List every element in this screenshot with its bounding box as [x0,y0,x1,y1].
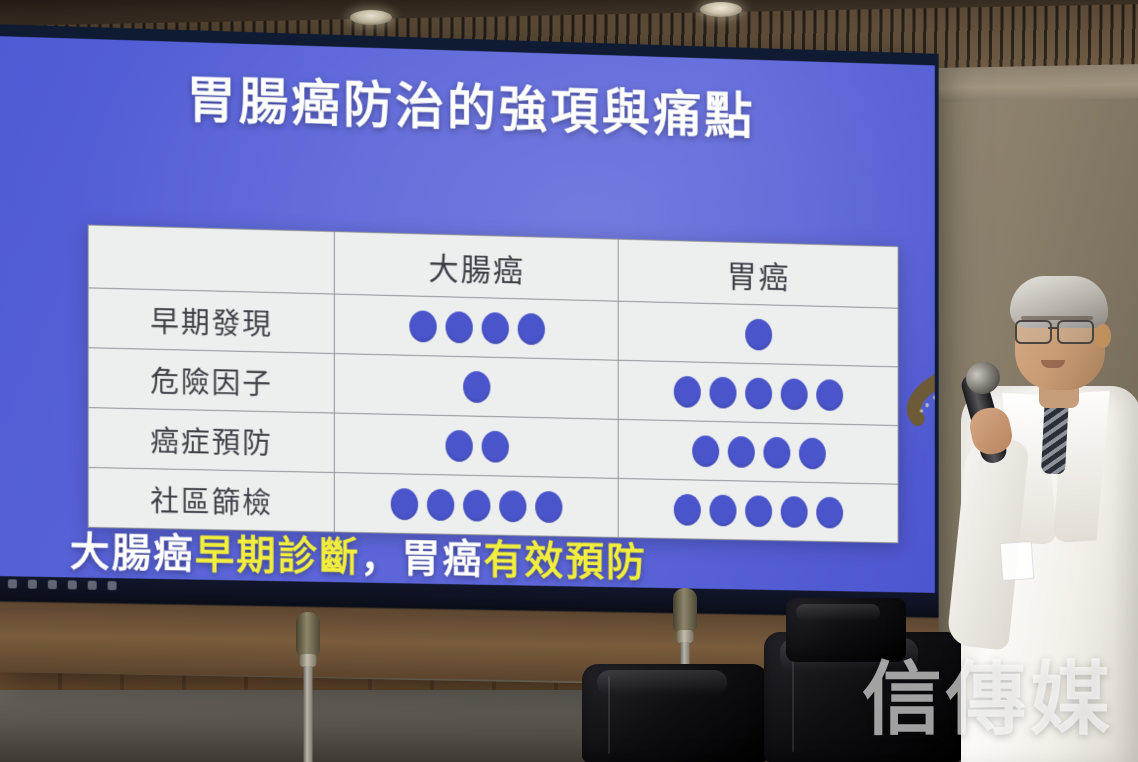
dot-group [335,414,618,478]
cell-gastric-community-screening [618,478,898,542]
rating-dot [781,496,808,528]
rating-dot [745,377,772,409]
rating-dot [445,429,472,461]
dot-group [619,361,898,425]
header-blank [88,225,334,294]
cell-colorectal-risk-factors [334,354,618,420]
rating-dot [481,312,508,344]
tagline-l1-hl1: 早期診斷 [195,532,361,581]
rating-dot [391,488,418,520]
downlight-3 [700,2,742,17]
tagline-l1-p1: 大腸癌 [70,529,195,577]
tagline-l1-p2: ，胃癌 [360,535,483,583]
tagline-l1-hl2: 有效預防 [484,537,647,585]
dot-group [619,479,898,542]
rating-dot [463,370,490,402]
header-colorectal: 大腸癌 [334,232,618,302]
downlight-2 [350,10,392,25]
rating-dot [409,310,436,342]
rating-dot [710,494,737,526]
rating-dot [481,430,508,462]
cell-gastric-cancer-prevention [618,419,898,484]
rating-dot [445,311,472,343]
rating-dot [727,436,754,468]
rating-dot [763,436,790,468]
glasses-icon [1013,320,1105,342]
rating-dot [427,488,454,520]
row-label-early-detection: 早期發現 [88,288,334,354]
speaker-name-badge [1000,541,1035,581]
rating-dot [517,312,544,344]
rating-dot [674,375,701,407]
chair-back-left [582,664,768,762]
h-pylori-icon [904,336,935,428]
cell-colorectal-community-screening [334,473,618,538]
presentation-slide: 胃腸癌防治的強項與痛點 大腸癌 胃癌 早期發現 [0,36,935,593]
comparison-table-wrapper: 大腸癌 胃癌 早期發現 [88,225,899,544]
rating-dot [692,435,719,467]
rating-dot [745,495,772,527]
rating-dot [745,318,772,350]
slide-title: 胃腸癌防治的強項與痛點 [0,54,935,153]
dot-group [335,354,618,419]
rating-dot [674,493,701,525]
cell-gastric-early-detection [618,301,898,367]
cell-colorectal-cancer-prevention [334,413,618,478]
row-label-risk-factors: 危險因子 [88,348,334,413]
row-label-cancer-prevention: 癌症預防 [88,408,334,473]
table-body: 早期發現 危險因子 [88,288,898,543]
rating-dot [499,490,526,522]
taskbar-icons [8,579,117,590]
rating-dot [781,378,808,410]
row-label-community-screening: 社區篩檢 [88,467,334,532]
rating-dot [535,491,562,523]
speaker-person [955,268,1138,762]
chair-back-right [786,598,906,662]
cell-colorectal-early-detection [334,294,618,360]
comparison-table: 大腸癌 胃癌 早期發現 [88,225,899,544]
dot-group [619,302,898,367]
rating-dot [816,496,843,528]
dot-group [335,295,618,360]
rating-dot [463,489,490,521]
dot-group [335,473,618,537]
dot-group [619,420,898,484]
rating-dot [710,376,737,408]
rating-dot [798,437,825,469]
screenshot-root: 胃腸癌防治的強項與痛點 大腸癌 胃癌 早期發現 [0,0,1138,762]
cell-gastric-risk-factors [618,360,898,425]
projection-screen: 胃腸癌防治的強項與痛點 大腸癌 胃癌 早期發現 [0,24,939,687]
rating-dot [816,379,843,411]
header-gastric: 胃癌 [618,239,898,308]
mic-stand-left [288,612,328,762]
